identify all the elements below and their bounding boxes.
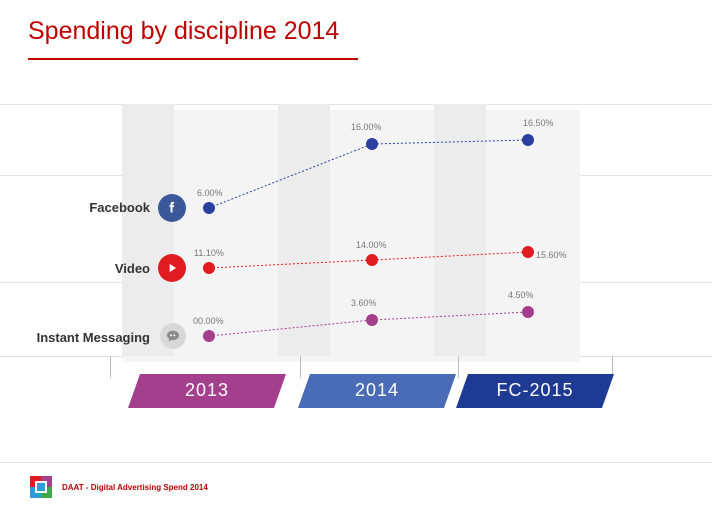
data-point-video-2013 <box>203 262 215 274</box>
period-banner-2013[interactable]: 2013 <box>128 374 286 408</box>
axis-tick-mid-2 <box>458 356 459 378</box>
axis-tick-left <box>110 356 111 378</box>
series-label-facebook: Facebook <box>10 200 150 215</box>
data-point-im-fc2015 <box>522 306 534 318</box>
series-connector-lines <box>0 104 712 404</box>
data-point-video-2014 <box>366 254 378 266</box>
data-point-video-fc2015 <box>522 246 534 258</box>
title-block: Spending by discipline 2014 <box>28 16 388 60</box>
series-label-video: Video <box>10 261 150 276</box>
period-banner-2013-label: 2013 <box>185 380 229 401</box>
page-title: Spending by discipline 2014 <box>28 16 388 46</box>
title-underline <box>28 58 358 60</box>
axis-tick-mid-1 <box>300 356 301 378</box>
data-point-facebook-2013 <box>203 202 215 214</box>
data-label-im-2014: 3.60% <box>351 298 377 308</box>
footer-text: DAAT - Digital Advertising Spend 2014 <box>62 483 208 492</box>
instant-messaging-icon <box>160 323 186 349</box>
series-label-instant-messaging: Instant Messaging <box>0 330 150 345</box>
footer: DAAT - Digital Advertising Spend 2014 <box>30 476 208 498</box>
data-label-im-2013: 00.00% <box>193 316 224 326</box>
data-label-facebook-fc2015: 16.50% <box>523 118 554 128</box>
data-label-video-2013: 11.10% <box>194 248 224 258</box>
data-label-im-fc2015: 4.50% <box>508 290 534 300</box>
daat-logo-icon <box>30 476 52 498</box>
data-point-facebook-fc2015 <box>522 134 534 146</box>
period-banner-fc2015[interactable]: FC-2015 <box>456 374 614 408</box>
data-label-facebook-2013: 6.00% <box>197 188 223 198</box>
data-label-facebook-2014: 16.00% <box>351 122 382 132</box>
data-point-facebook-2014 <box>366 138 378 150</box>
period-banner-fc2015-label: FC-2015 <box>496 380 573 401</box>
data-point-im-2013 <box>203 330 215 342</box>
data-point-im-2014 <box>366 314 378 326</box>
data-label-video-2014: 14.00% <box>356 240 387 250</box>
period-banner-2014[interactable]: 2014 <box>298 374 456 408</box>
youtube-icon <box>158 254 186 282</box>
data-label-video-fc2015: 15.60% <box>536 250 567 260</box>
facebook-icon <box>158 194 186 222</box>
footer-divider <box>0 462 712 463</box>
period-banner-2014-label: 2014 <box>355 380 399 401</box>
chart-area: Facebook 6.00% 16.00% 16.50% Video 11.10… <box>0 104 712 404</box>
